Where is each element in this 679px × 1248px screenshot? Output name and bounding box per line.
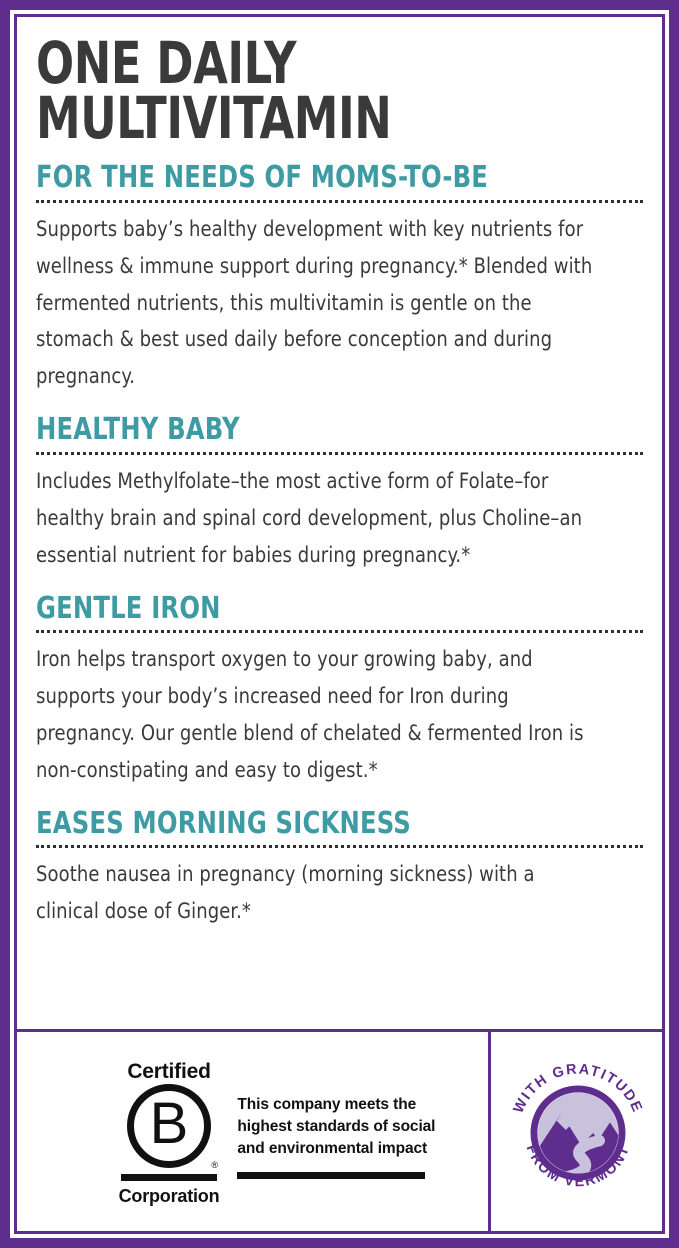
bcorp-circle-outline: B [127,1084,211,1168]
page-title: ONE DAILY MULTIVITAMIN [36,36,558,146]
section-gentle-iron: GENTLE IRON Iron helps transport oxygen … [36,593,643,790]
section-heading: FOR THE NEEDS OF MOMS-TO-BE [36,162,582,194]
section-body: Soothe nausea in pregnancy (morning sick… [36,857,601,931]
bcorp-letter-b: B [150,1095,189,1153]
bcorp-certified-label: Certified [127,1061,210,1082]
vermont-seal-block: WITH GRATITUDE FROM VERMONT [488,1032,665,1234]
section-body: Includes Methylfolate–the most active fo… [36,464,601,575]
section-moms-to-be: FOR THE NEEDS OF MOMS-TO-BE Supports bab… [36,162,643,396]
bcorp-claim-line-1: This company meets the [237,1094,435,1116]
section-divider [36,200,643,203]
vermont-gratitude-seal-icon: WITH GRATITUDE FROM VERMONT [502,1057,654,1209]
title-line-2: MULTIVITAMIN [36,91,558,146]
bcorp-corporation-label: Corporation [119,1187,220,1205]
section-body: Supports baby’s healthy development with… [36,212,601,397]
section-heading: EASES MORNING SICKNESS [36,808,582,840]
footer-badges: Certified B ® Corporation This company m… [14,1029,665,1234]
section-heading: GENTLE IRON [36,593,582,625]
section-divider [36,845,643,848]
bcorp-logo: Certified B ® Corporation [119,1061,220,1205]
bcorp-claim-line-3: and environmental impact [237,1138,435,1160]
section-heading: HEALTHY BABY [36,414,582,446]
bcorp-underline-bar [121,1174,217,1181]
bcorp-claim-line-2: highest standards of social [237,1116,435,1138]
section-healthy-baby: HEALTHY BABY Includes Methylfolate–the m… [36,414,643,574]
registered-trademark-icon: ® [211,1161,218,1170]
bcorp-claim-block: This company meets the highest standards… [237,1094,435,1179]
section-divider [36,452,643,455]
bcorp-circle-icon: B ® [127,1084,211,1168]
bcorp-claim-underline-bar [237,1172,425,1179]
section-body: Iron helps transport oxygen to your grow… [36,642,601,790]
section-divider [36,630,643,633]
product-label-panel: ONE DAILY MULTIVITAMIN FOR THE NEEDS OF … [0,0,679,1248]
bcorp-certification-block: Certified B ® Corporation This company m… [14,1032,488,1234]
section-eases-morning-sickness: EASES MORNING SICKNESS Soothe nausea in … [36,808,643,931]
